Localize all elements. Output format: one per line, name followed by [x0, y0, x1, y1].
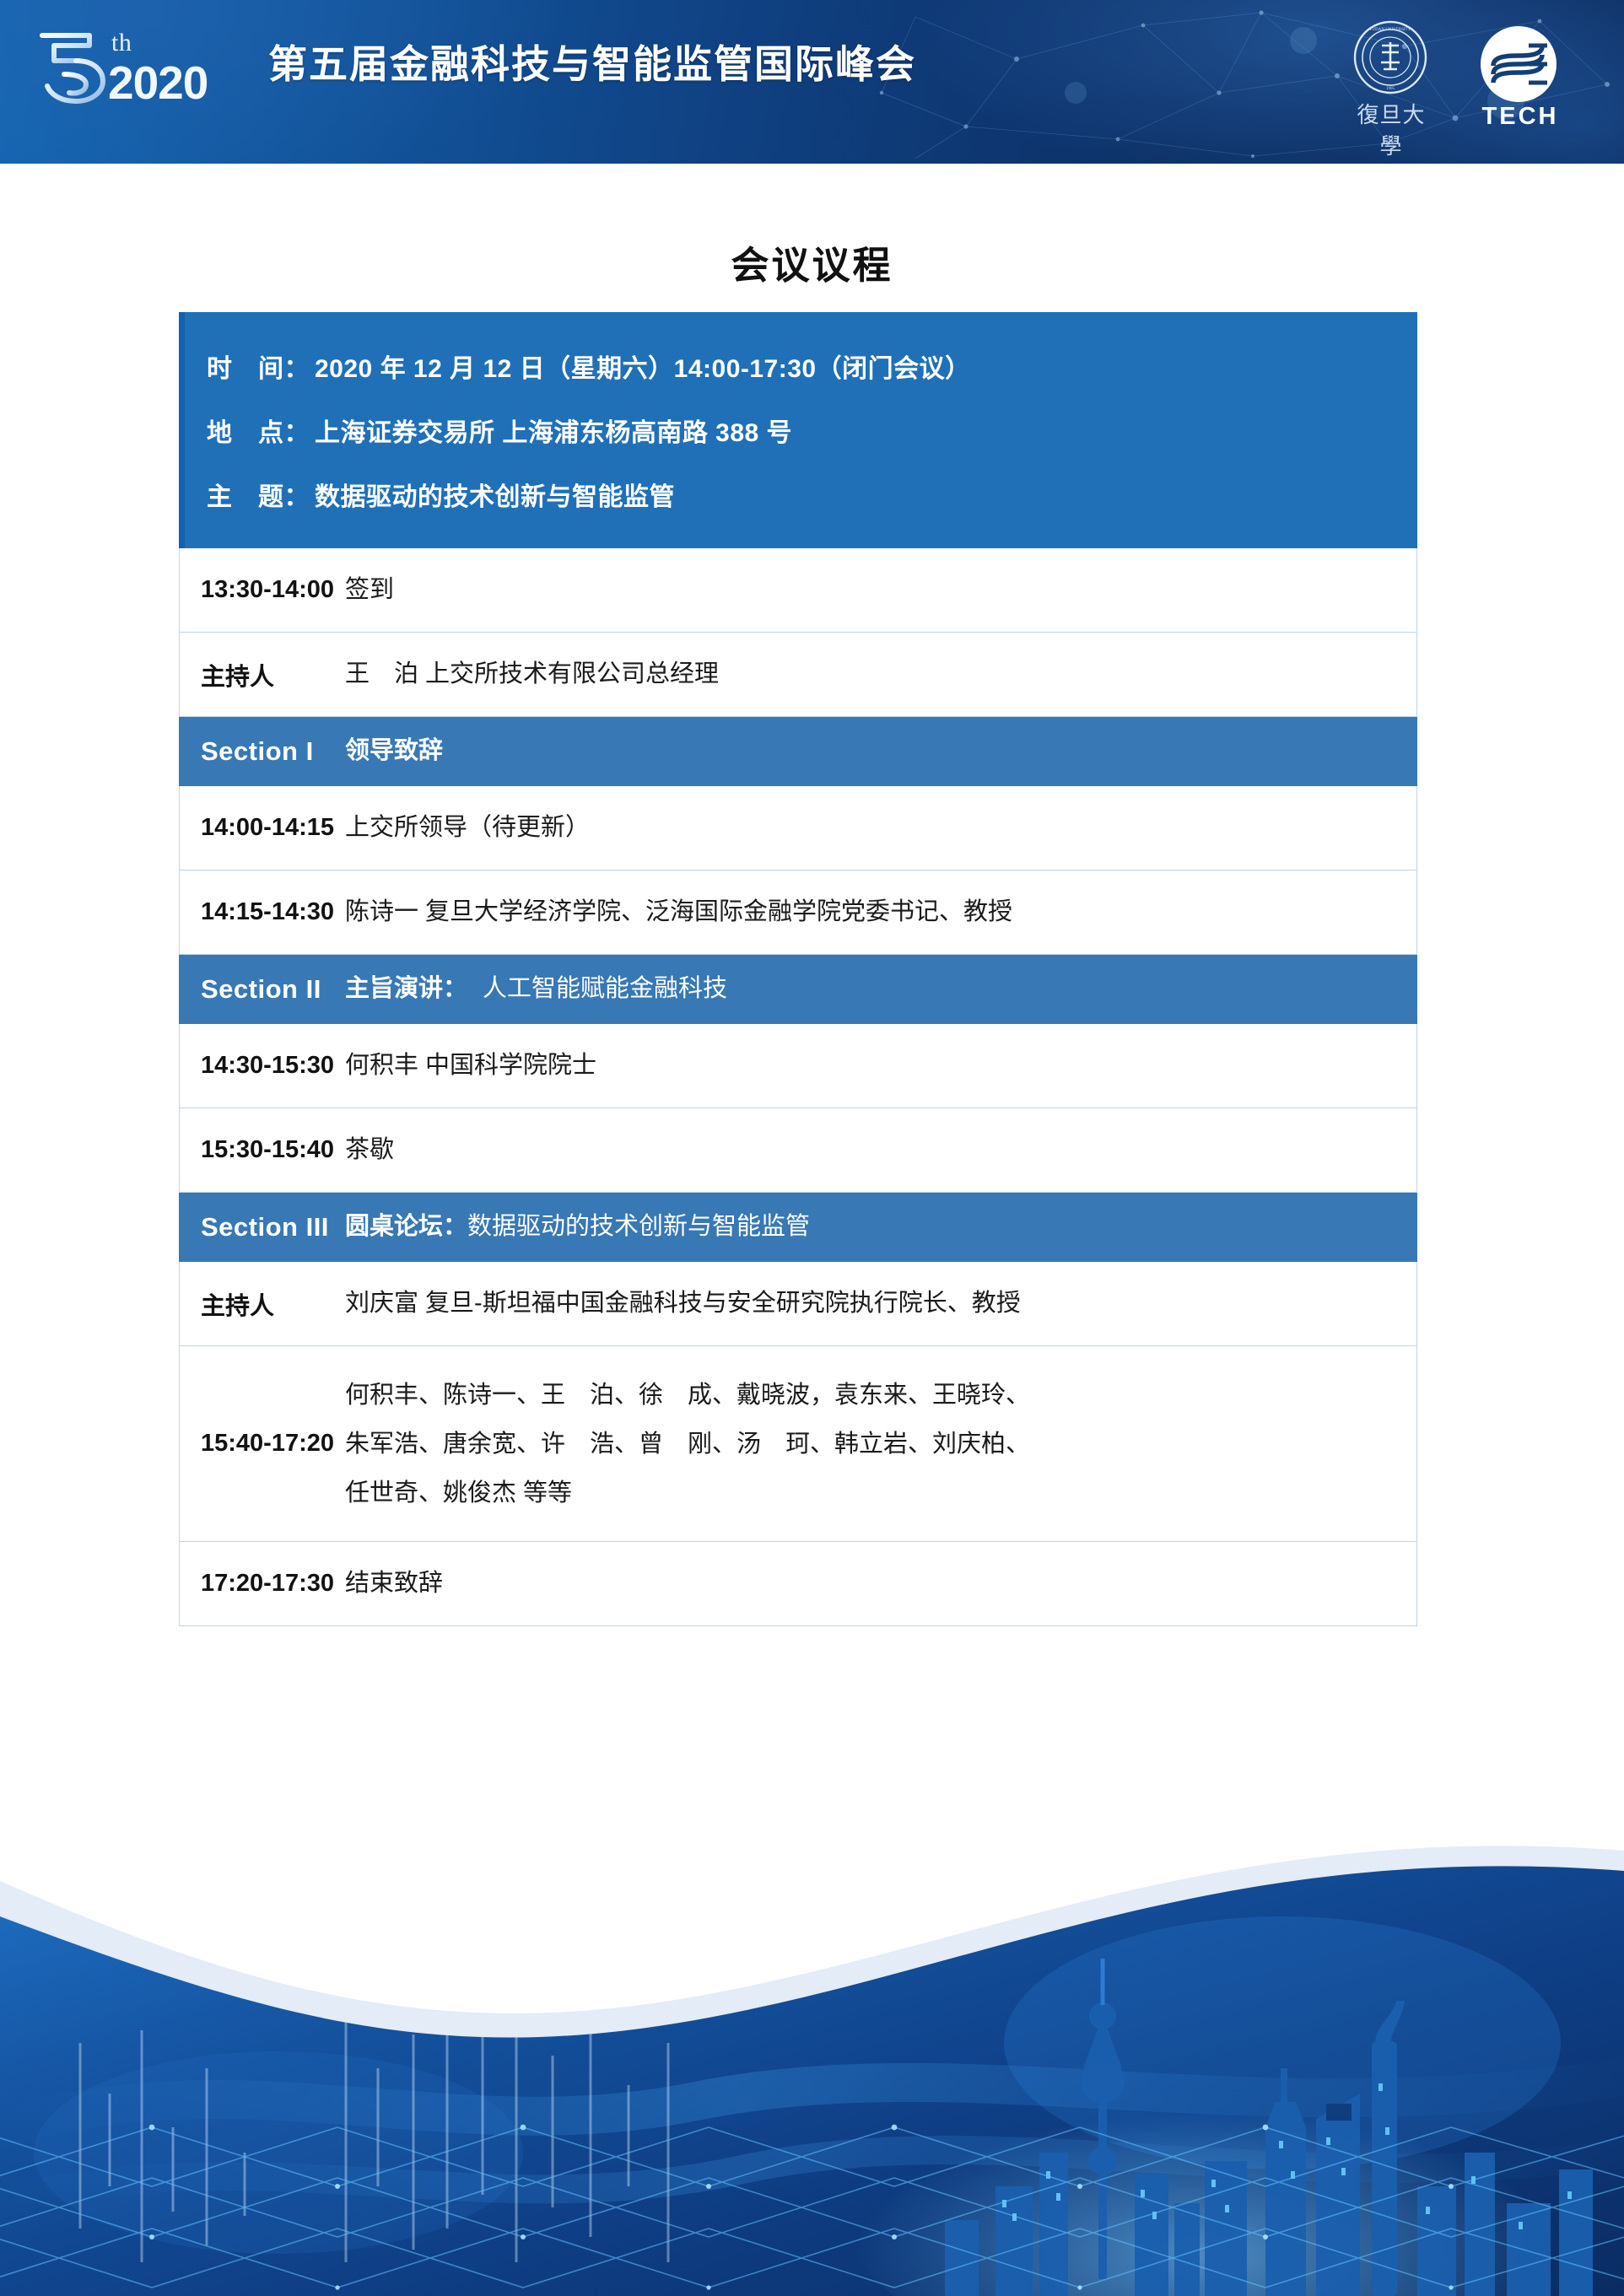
row-desc: 领导致辞: [345, 727, 1416, 775]
row-time: 14:30-15:30: [180, 1052, 345, 1080]
info-label-time: 时 间：: [207, 348, 310, 385]
section-title: 圆桌论坛：: [345, 1213, 467, 1240]
row-time: 15:40-17:20: [180, 1430, 345, 1458]
row-desc: 刘庆富 复旦-斯坦福中国金融科技与安全研究院执行院长、教授: [345, 1280, 1416, 1328]
event-info-box: 时 间： 2020 年 12 月 12 日（星期六）14:00-17:30（闭门…: [179, 312, 1417, 548]
info-label-theme: 主 题：: [207, 476, 310, 513]
row-desc: 上交所领导（待更新）: [345, 804, 1416, 852]
fudan-university-logo: FUDAN UNIVERSITY 1905 復旦大學: [1346, 20, 1436, 138]
page-title: 会议议程: [0, 234, 1624, 289]
table-row: 主持人 刘庆富 复旦-斯坦福中国金融科技与安全研究院执行院长、教授: [179, 1262, 1417, 1346]
svg-text:1905: 1905: [1386, 87, 1395, 91]
fudan-seal-icon: FUDAN UNIVERSITY 1905: [1353, 20, 1427, 94]
table-row-section: Section III 圆桌论坛：数据驱动的技术创新与智能监管: [179, 1193, 1417, 1262]
banner-title: 第五届金融科技与智能监管国际峰会: [268, 34, 916, 89]
row-time: 14:00-14:15: [180, 814, 345, 842]
info-row-theme: 主 题： 数据驱动的技术创新与智能监管: [185, 462, 1417, 526]
header-banner: th 2020 第五届金融科技与智能监管国际峰会 FUDAN UNIVERSIT…: [0, 0, 1624, 164]
section-subtitle: 人工智能赋能金融科技: [483, 975, 727, 1002]
svg-text:FUDAN UNIVERSITY: FUDAN UNIVERSITY: [1370, 28, 1411, 32]
edition-mark: th 2020: [30, 15, 224, 110]
row-section-label: Section I: [180, 736, 345, 767]
table-row-section: Section II 主旨演讲：人工智能赋能金融科技: [179, 955, 1417, 1024]
row-desc: 签到: [345, 566, 1416, 614]
row-desc: 陈诗一 复旦大学经济学院、泛海国际金融学院党委书记、教授: [345, 888, 1416, 936]
table-row: 14:30-15:30 何积丰 中国科学院院士: [179, 1024, 1417, 1108]
table-row: 13:30-14:00 签到: [179, 548, 1417, 633]
row-desc: 圆桌论坛：数据驱动的技术创新与智能监管: [345, 1203, 1416, 1251]
row-time: 主持人: [180, 657, 345, 693]
table-row-participants: 15:40-17:20 何积丰、陈诗一、王 泊、徐 成、戴晓波，袁东来、王晓玲、…: [179, 1346, 1417, 1542]
table-row: 14:00-14:15 上交所领导（待更新）: [179, 786, 1417, 870]
edition-suffix: th: [111, 29, 132, 57]
agenda-table: 时 间： 2020 年 12 月 12 日（星期六）14:00-17:30（闭门…: [179, 312, 1417, 1626]
section-subtitle: 数据驱动的技术创新与智能监管: [467, 1213, 810, 1240]
table-row: 主持人 王 泊 上交所技术有限公司总经理: [179, 633, 1417, 717]
info-label-venue: 地 点：: [207, 412, 310, 449]
row-desc: 何积丰、陈诗一、王 泊、徐 成、戴晓波，袁东来、王晓玲、 朱军浩、唐余宽、许 浩…: [345, 1371, 1416, 1517]
edition-year: 2020: [108, 56, 208, 110]
participants-line: 何积丰、陈诗一、王 泊、徐 成、戴晓波，袁东来、王晓玲、: [345, 1371, 1403, 1420]
participants-line: 任世奇、姚俊杰 等等: [345, 1469, 1403, 1517]
sse-tech-logo: TECH: [1470, 25, 1571, 135]
row-time: 15:30-15:40: [180, 1136, 345, 1164]
row-desc: 结束致辞: [345, 1560, 1416, 1608]
row-time: 13:30-14:00: [180, 576, 345, 604]
info-row-time: 时 间： 2020 年 12 月 12 日（星期六）14:00-17:30（闭门…: [185, 334, 1417, 398]
section-title: 领导致辞: [345, 737, 443, 764]
row-section-label: Section III: [180, 1212, 345, 1242]
footer-artwork: [0, 1790, 1624, 2296]
participants-line: 朱军浩、唐余宽、许 浩、曾 刚、汤 珂、韩立岩、刘庆柏、: [345, 1420, 1403, 1469]
row-time: 主持人: [180, 1286, 345, 1322]
info-value-theme: 数据驱动的技术创新与智能监管: [315, 476, 675, 513]
row-section-label: Section II: [180, 974, 345, 1005]
sse-logo-text: TECH: [1470, 103, 1571, 131]
table-row-section: Section I 领导致辞: [179, 717, 1417, 786]
info-value-time: 2020 年 12 月 12 日（星期六）14:00-17:30（闭门会议）: [315, 348, 971, 385]
row-desc: 何积丰 中国科学院院士: [345, 1042, 1416, 1090]
shanghai-skyline-wave-icon: [0, 1790, 1624, 2296]
section-title: 主旨演讲：: [345, 975, 467, 1002]
info-value-venue: 上海证券交易所 上海浦东杨高南路 388 号: [315, 412, 792, 449]
row-desc: 主旨演讲：人工智能赋能金融科技: [345, 965, 1416, 1013]
info-row-venue: 地 点： 上海证券交易所 上海浦东杨高南路 388 号: [185, 398, 1417, 462]
table-row: 15:30-15:40 茶歇: [179, 1108, 1417, 1193]
sse-circle-icon: [1480, 25, 1557, 103]
fudan-logo-text: 復旦大學: [1346, 98, 1436, 160]
row-time: 14:15-14:30: [180, 898, 345, 926]
row-time: 17:20-17:30: [180, 1570, 345, 1598]
row-desc: 茶歇: [345, 1126, 1416, 1174]
row-desc: 王 泊 上交所技术有限公司总经理: [345, 650, 1416, 698]
table-row: 17:20-17:30 结束致辞: [179, 1542, 1417, 1626]
table-row: 14:15-14:30 陈诗一 复旦大学经济学院、泛海国际金融学院党委书记、教授: [179, 870, 1417, 955]
